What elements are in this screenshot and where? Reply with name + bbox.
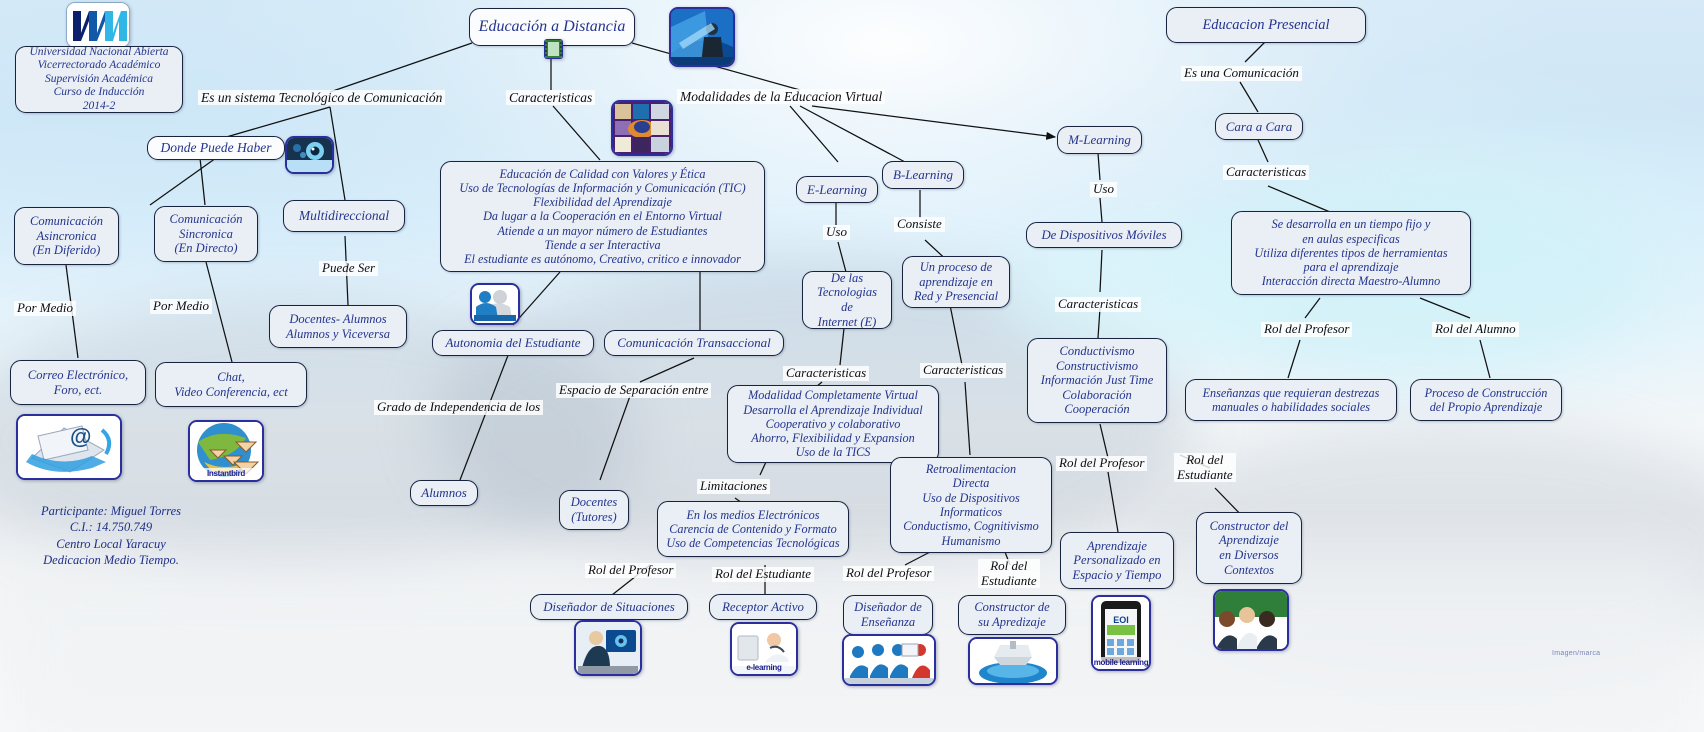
link-label-grado-independencia: Grado de Independencia de los [374,400,543,415]
svg-text:EOI: EOI [1113,615,1129,625]
link-label-por-medio-2: Por Medio [150,299,212,314]
link-label-limitaciones: Limitaciones [697,479,770,494]
instantbird-chat-thumb: Instantbird [188,420,264,482]
link-label-rol-estudiante-3: Rol del Estudiante [1174,453,1236,482]
node-constructor-diversos-contextos[interactable]: Constructor del Aprendizaje en Diversos … [1196,512,1302,584]
node-dispositivos-moviles[interactable]: De Dispositivos Móviles [1026,222,1182,248]
node-proceso-construccion[interactable]: Proceso de Construcción del Propio Apren… [1410,379,1562,421]
node-cara-a-cara[interactable]: Cara a Cara [1215,113,1303,140]
node-m-learning[interactable]: M-Learning [1057,126,1142,154]
link-label-es-una-comunicacion: Es una Comunicación [1181,66,1302,81]
link-label-caracteristicas-2: Caracteristicas [783,366,869,381]
node-caracteristicas-elearning[interactable]: Modalidad Completamente Virtual Desarrol… [727,385,939,463]
globe-graduation-thumb [968,637,1058,685]
link-label-modalidades: Modalidades de la Educacion Virtual [677,89,885,104]
node-educacion-presencial[interactable]: Educacion Presencial [1166,7,1366,43]
node-aprendizaje-personalizado[interactable]: Aprendizaje Personalizado en Espacio y T… [1060,532,1174,589]
node-caracteristicas-mlearning[interactable]: Conductivismo Constructivismo Informació… [1027,338,1167,423]
node-correo-electronico[interactable]: Correo Electrónico, Foro, ect. [10,360,146,405]
link-label-rol-alumno: Rol del Alumno [1432,322,1519,337]
node-comunicacion-asincronica[interactable]: Comunicación Asincronica (En Diferido) [14,207,119,265]
link-label-rol-estudiante-1: Rol del Estudiante [712,567,814,582]
link-label-sistema-tecnologico: Es un sistema Tecnológico de Comunicació… [198,90,445,105]
node-constructor-su-aprendizaje[interactable]: Constructor de su Apredizaje [958,595,1066,635]
link-label-rol-profesor-1: Rol del Profesor [585,563,676,578]
svg-text:@: @ [70,424,91,449]
node-comunicacion-transaccional[interactable]: Comunicación Transaccional [604,330,784,356]
link-label-caracteristicas-4: Caracteristicas [1055,297,1141,312]
link-label-uso-1: Uso [823,225,850,240]
node-disenador-ensenanza[interactable]: Diseñador de Enseñanza [843,595,933,635]
film-strip-icon [544,39,563,59]
image-watermark: Imagen/marca [1552,650,1600,657]
classroom-meeting-thumb [842,634,936,686]
link-label-por-medio-1: Por Medio [14,301,76,316]
student-reading-thumb [470,283,520,325]
graduate-photo-thumb [669,7,735,67]
link-label-caracteristicas-3: Caracteristicas [920,363,1006,378]
node-autonomia-estudiante[interactable]: Autonomia del Estudiante [432,330,594,356]
thumb-caption: e-learning [732,662,796,674]
collage-education-thumb [611,100,673,156]
link-label-uso-2: Uso [1090,182,1117,197]
node-receptor-activo[interactable]: Receptor Activo [709,594,817,620]
participant-info: Participante: Miguel Torres C.I.: 14.750… [16,503,206,568]
concept-map-canvas: Universidad Nacional Abierta Vicerrector… [0,0,1704,732]
node-chat-videoconferencia[interactable]: Chat, Video Conferencia, ect [155,362,307,407]
link-label-caracteristicas-1: Caracteristicas [506,90,595,105]
node-docentes-alumnos[interactable]: Docentes- Alumnos Alumnos y Viceversa [269,305,407,348]
tablet-mobile-learning-thumb: EOI mobile learning [1091,595,1151,671]
thumb-caption: mobile learning [1093,657,1149,669]
node-proceso-red-presencial[interactable]: Un proceso de aprendizaje en Red y Prese… [902,256,1010,308]
students-classroom-thumb [1213,589,1289,651]
node-multidireccional[interactable]: Multidireccional [283,200,405,232]
eye-technology-thumb [285,136,334,174]
link-label-puede-ser: Puede Ser [319,261,378,276]
elearning-laptop-thumb: e-learning [730,622,798,676]
link-label-rol-profesor-2: Rol del Profesor [843,566,934,581]
node-comunicacion-sincronica[interactable]: Comunicación Sincronica (En Directo) [154,206,258,262]
node-institution: Universidad Nacional Abierta Vicerrector… [15,46,183,113]
node-caracteristicas-educacion-distancia[interactable]: Educación de Calidad con Valores y Ética… [440,161,765,272]
node-b-learning[interactable]: B-Learning [882,161,964,189]
link-label-rol-estudiante-2: Rol del Estudiante [978,559,1040,588]
node-donde-puede-haber[interactable]: Donde Puede Haber [147,136,285,160]
node-disenador-situaciones[interactable]: Diseñador de Situaciones [530,594,688,620]
link-label-caracteristicas-5: Caracteristicas [1223,165,1309,180]
teacher-monitor-thumb [574,620,642,676]
node-ensenanzas-destrezas[interactable]: Enseñanzas que requieran destrezas manua… [1185,379,1397,421]
node-limitaciones-elearning[interactable]: En los medios Electrónicos Carencia de C… [657,501,849,557]
link-label-espacio-separacion: Espacio de Separación entre [556,383,711,398]
link-label-rol-profesor-3: Rol del Profesor [1056,456,1147,471]
node-e-learning[interactable]: E-Learning [796,176,878,203]
link-label-consiste: Consiste [894,217,945,232]
una-logo [66,2,130,48]
node-alumnos[interactable]: Alumnos [410,480,478,506]
node-docentes-tutores[interactable]: Docentes (Tutores) [559,490,629,530]
node-caracteristicas-presencial[interactable]: Se desarrolla en un tiempo fijo y en aul… [1231,211,1471,295]
link-label-rol-profesor-4: Rol del Profesor [1261,322,1352,337]
node-caracteristicas-blearning[interactable]: Retroalimentacion Directa Uso de Disposi… [890,457,1052,553]
email-at-symbol-thumb: @ [16,414,122,480]
thumb-caption: Instantbird [190,468,262,480]
node-tecnologias-internet[interactable]: De las Tecnologias de Internet (E) [802,271,892,329]
